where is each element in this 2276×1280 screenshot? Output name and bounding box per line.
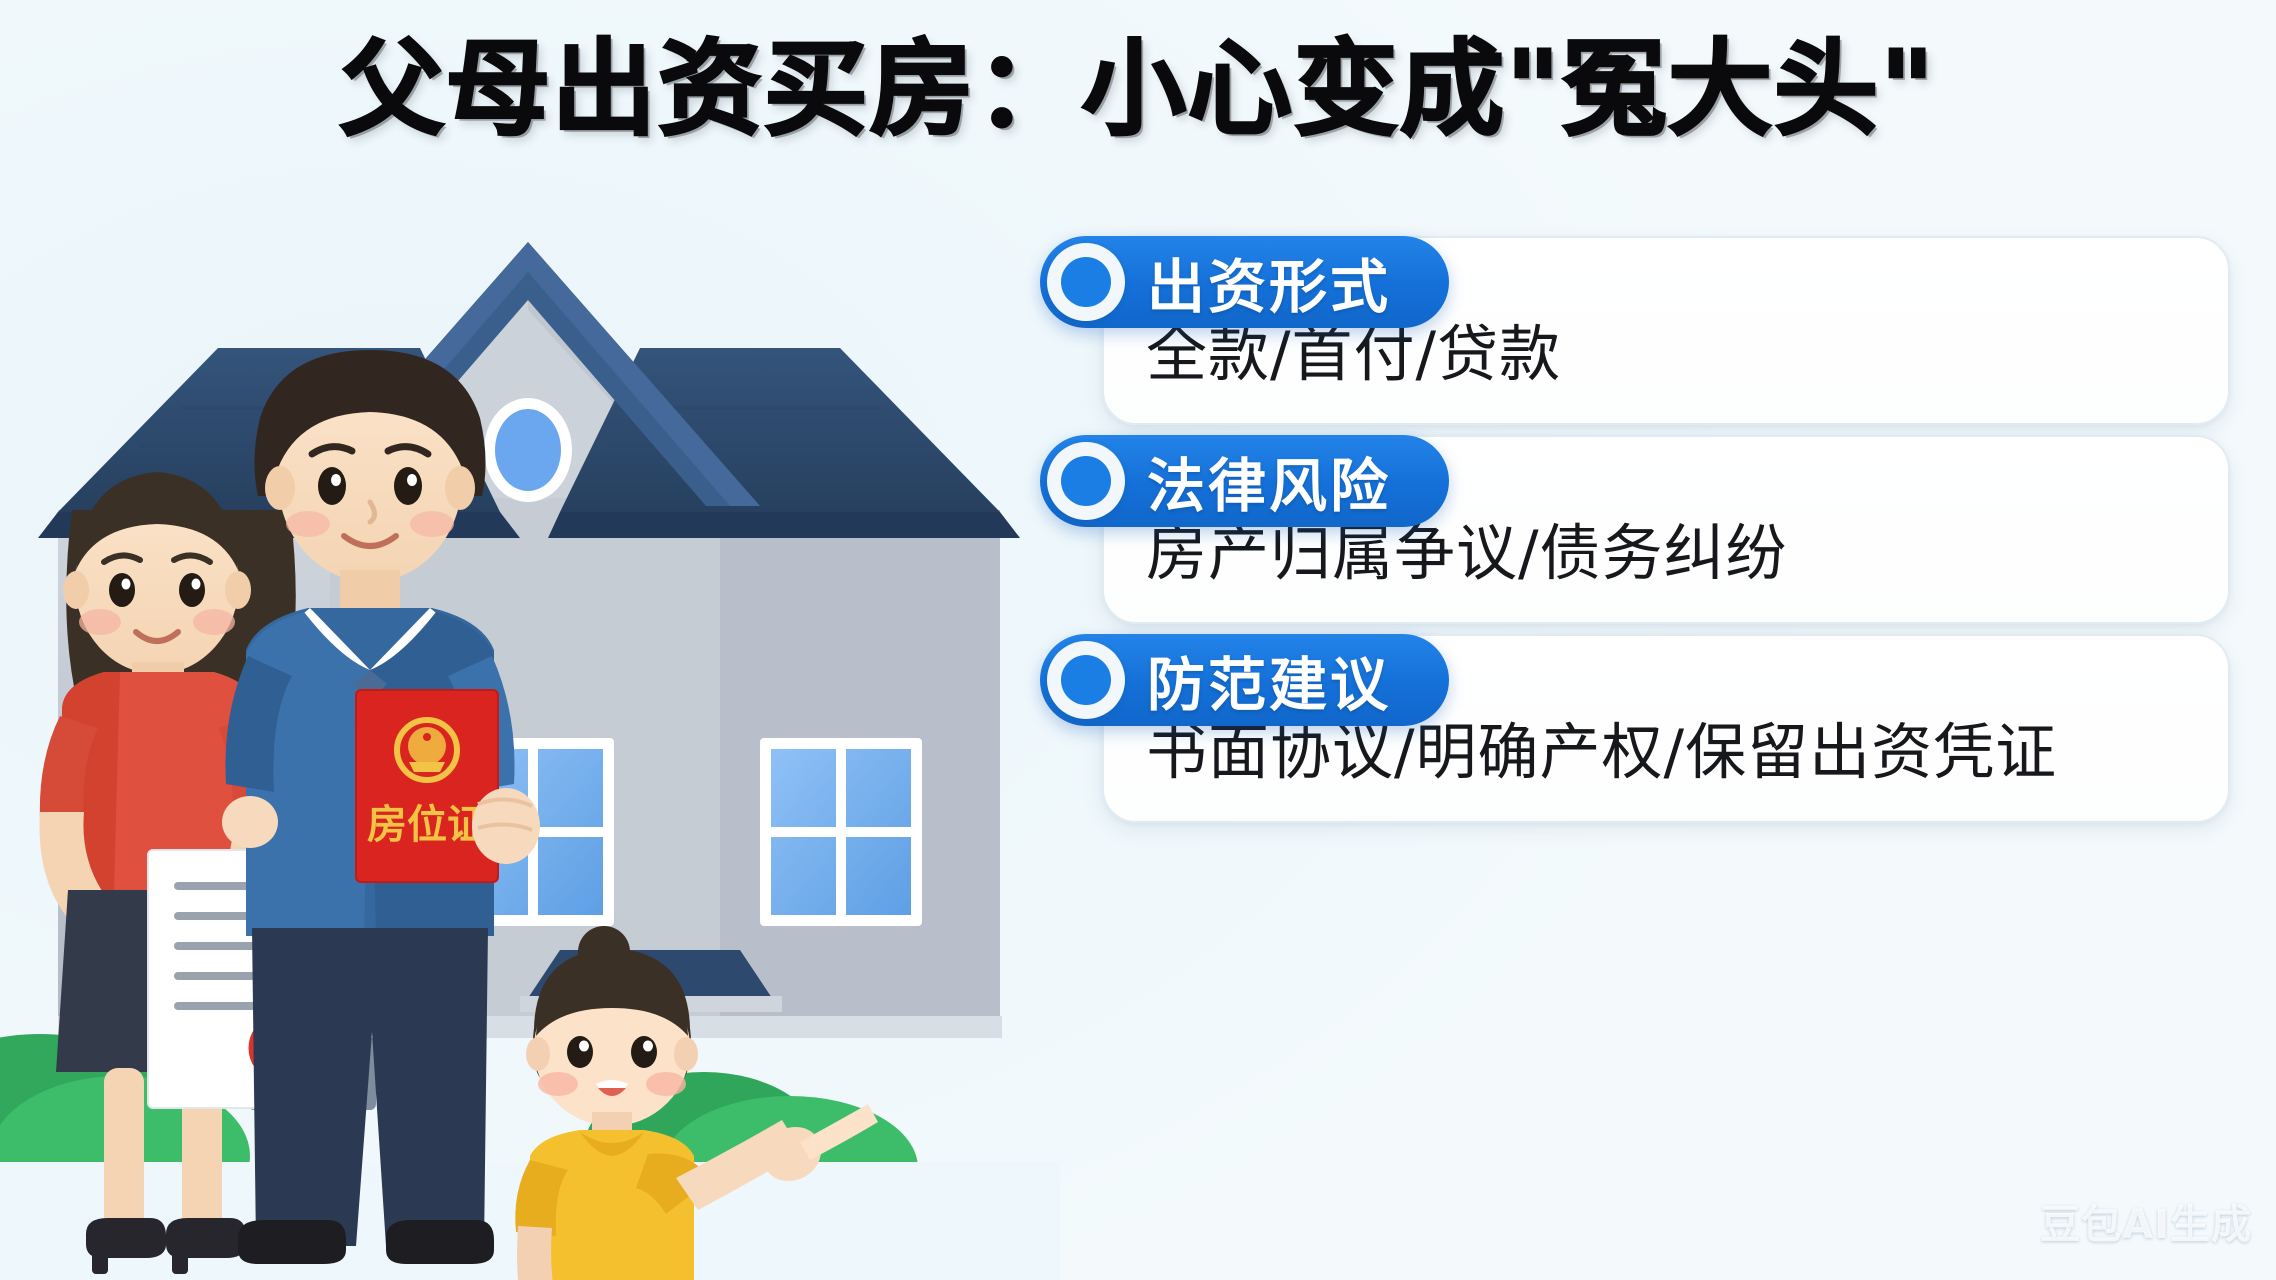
circle-bullet-icon: [1047, 442, 1125, 520]
card-header-label: 防范建议: [1147, 638, 1391, 722]
poster-canvas: 父母出资买房：小心变成"冤大头": [0, 0, 2276, 1280]
illustration-family-in-front-of-house: 房位证: [0, 150, 1060, 1280]
card-header-legal-risk[interactable]: 法律风险: [1040, 435, 1449, 527]
info-card-prevention-advice[interactable]: 防范建议 书面协议/明确产权/保留出资凭证: [1040, 634, 2230, 823]
info-card-funding-form[interactable]: 出资形式 全款/首付/贷款: [1040, 236, 2230, 425]
card-header-label: 法律风险: [1147, 439, 1391, 523]
card-header-prevention-advice[interactable]: 防范建议: [1040, 634, 1449, 726]
attic-round-window: [484, 398, 572, 502]
watermark: 豆包AI生成: [2040, 1192, 2252, 1250]
info-card-list: 出资形式 全款/首付/贷款 法律风险 房产归属争议/债务纠纷 防范建议 书面协议…: [1040, 278, 2230, 875]
property-certificate: 房位证: [356, 690, 498, 882]
page-title: 父母出资买房：小心变成"冤大头": [0, 26, 2276, 153]
house-window: [760, 738, 922, 926]
certificate-label: 房位证: [367, 802, 487, 848]
father-hand: [472, 788, 540, 864]
info-card-legal-risk[interactable]: 法律风险 房产归属争议/债务纠纷: [1040, 435, 2230, 624]
card-header-funding-form[interactable]: 出资形式: [1040, 236, 1449, 328]
circle-bullet-icon: [1047, 243, 1125, 321]
circle-bullet-icon: [1047, 641, 1125, 719]
card-header-label: 出资形式: [1147, 240, 1391, 324]
